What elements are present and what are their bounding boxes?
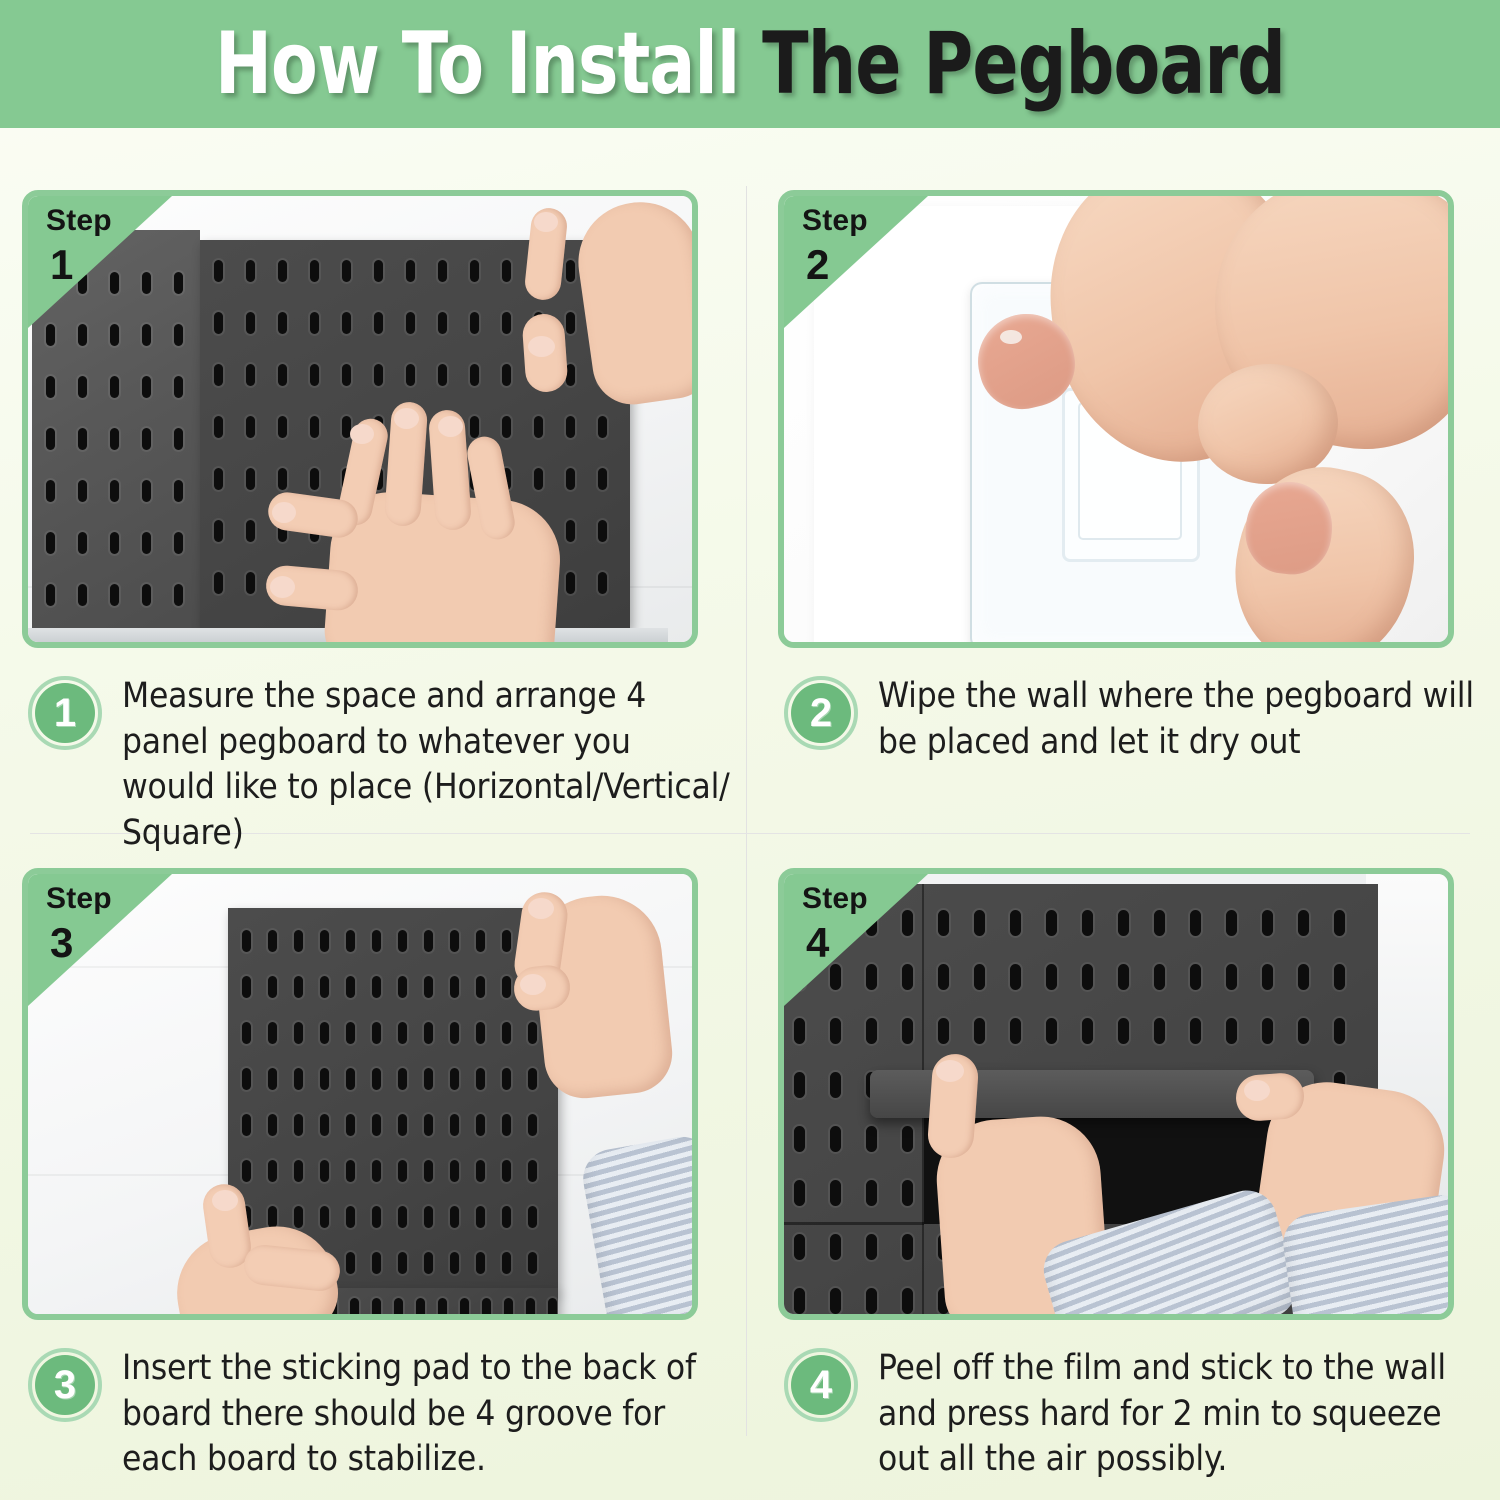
pegboard-slot bbox=[598, 520, 607, 542]
pegboard-slot bbox=[1046, 910, 1057, 936]
pegboard-slot bbox=[1154, 1018, 1165, 1044]
vertical-divider bbox=[746, 186, 747, 1436]
fingernail bbox=[272, 502, 296, 523]
pegboard-slot bbox=[310, 260, 319, 282]
pegboard-slot bbox=[310, 416, 319, 438]
badge-disc: 2 bbox=[791, 683, 851, 743]
pegboard-slot bbox=[566, 416, 575, 438]
pegboard-slot bbox=[78, 584, 87, 606]
pegboard-slot bbox=[346, 1114, 355, 1136]
pegboard-slot bbox=[372, 1206, 381, 1228]
pegboard-slot bbox=[902, 964, 913, 990]
pegboard-slot bbox=[346, 1206, 355, 1228]
pegboard-slot bbox=[794, 1234, 805, 1260]
pegboard-slot bbox=[346, 976, 355, 998]
pegboard-slot bbox=[438, 312, 447, 334]
pegboard-slot bbox=[242, 976, 251, 998]
pegboard-slot bbox=[534, 468, 543, 490]
pegboard-slot bbox=[866, 1126, 877, 1152]
pegboard-slot bbox=[502, 364, 511, 386]
pegboard-slot bbox=[320, 1068, 329, 1090]
step-3-scene bbox=[28, 874, 692, 1314]
pegboard-slot bbox=[372, 1068, 381, 1090]
pegboard-slot bbox=[1154, 910, 1165, 936]
pegboard-slot bbox=[278, 260, 287, 282]
pegboard-slot bbox=[1226, 964, 1237, 990]
pegboard-slot bbox=[902, 1018, 913, 1044]
pegboard-panel-strip bbox=[314, 1288, 558, 1314]
pegboard-slot bbox=[438, 364, 447, 386]
pegboard-slot bbox=[294, 1206, 303, 1228]
pegboard-slot bbox=[110, 324, 119, 346]
step-number-badge-1: 1 bbox=[28, 676, 102, 750]
pegboard-slot bbox=[310, 312, 319, 334]
pegboard-slot bbox=[476, 1160, 485, 1182]
pegboard-slot bbox=[294, 976, 303, 998]
pegboard-slot bbox=[598, 468, 607, 490]
pegboard-slot bbox=[78, 428, 87, 450]
pegboard-slot bbox=[866, 964, 877, 990]
pegboard-slot bbox=[1298, 964, 1309, 990]
step-card-1: Step 1 1 Measure the space and arrange 4… bbox=[22, 190, 740, 856]
pegboard-slot bbox=[278, 364, 287, 386]
pegboard-slot bbox=[502, 1206, 511, 1228]
pegboard-slot bbox=[294, 1114, 303, 1136]
pegboard-slot bbox=[214, 364, 223, 386]
pegboard-slot bbox=[528, 1252, 537, 1274]
pegboard-slot bbox=[450, 1022, 459, 1044]
nail-highlight bbox=[1000, 330, 1022, 344]
pegboard-slot bbox=[398, 1206, 407, 1228]
pegboard-slot bbox=[424, 930, 433, 952]
pegboard-slot bbox=[372, 930, 381, 952]
pegboard-slot bbox=[268, 1022, 277, 1044]
pegboard-slot bbox=[1046, 964, 1057, 990]
pegboard-slot bbox=[476, 1022, 485, 1044]
pegboard-slot bbox=[1334, 910, 1345, 936]
pegboard-slot bbox=[310, 364, 319, 386]
pegboard-slot bbox=[1082, 1018, 1093, 1044]
pegboard-slot bbox=[110, 532, 119, 554]
pegboard-slot bbox=[110, 272, 119, 294]
pegboard-slot bbox=[46, 376, 55, 398]
pegboard-slot bbox=[1118, 910, 1129, 936]
pegboard-slot bbox=[46, 584, 55, 606]
pegboard-slot bbox=[424, 1068, 433, 1090]
pegboard-slot bbox=[528, 1206, 537, 1228]
step-1-caption: 1 Measure the space and arrange 4 panel … bbox=[22, 674, 740, 856]
pegboard-slot bbox=[142, 376, 151, 398]
page-title-part2: The Pegboard bbox=[762, 14, 1285, 114]
step-card-4: Step 4 4 Peel off the film and stick to … bbox=[778, 868, 1496, 1483]
pegboard-slot bbox=[830, 1288, 841, 1314]
pegboard-slot bbox=[470, 416, 479, 438]
step-3-text: Insert the sticking pad to the back of b… bbox=[122, 1346, 730, 1483]
pegboard-slot bbox=[794, 1126, 805, 1152]
pegboard-slot bbox=[902, 1288, 913, 1314]
pegboard-slot bbox=[242, 1068, 251, 1090]
pegboard-slot bbox=[1082, 910, 1093, 936]
pegboard-slot bbox=[830, 1126, 841, 1152]
pegboard-slot bbox=[416, 1298, 425, 1314]
pegboard-slot bbox=[866, 1234, 877, 1260]
pegboard-slot bbox=[246, 312, 255, 334]
pegboard-slot bbox=[450, 976, 459, 998]
pegboard-slot bbox=[46, 480, 55, 502]
pegboard-slot bbox=[598, 572, 607, 594]
step-corner-number: 4 bbox=[806, 922, 829, 964]
pegboard-slot bbox=[794, 1072, 805, 1098]
pegboard-slot bbox=[502, 976, 511, 998]
pegboard-slot bbox=[566, 572, 575, 594]
step-2-text: Wipe the wall where the pegboard will be… bbox=[878, 674, 1486, 765]
pegboard-slot bbox=[830, 964, 841, 990]
pegboard-slot bbox=[1262, 1018, 1273, 1044]
pegboard-slot bbox=[974, 910, 985, 936]
pegboard-slot bbox=[424, 1252, 433, 1274]
step-corner-number: 3 bbox=[50, 922, 73, 964]
pegboard-slot bbox=[438, 260, 447, 282]
pegboard-slot bbox=[398, 1068, 407, 1090]
pegboard-slot bbox=[174, 480, 183, 502]
pegboard-slot bbox=[246, 364, 255, 386]
pegboard-slot bbox=[174, 376, 183, 398]
pegboard-slot bbox=[502, 312, 511, 334]
pegboard-slot bbox=[110, 428, 119, 450]
step-corner-number: 1 bbox=[50, 244, 73, 286]
pegboard-slot bbox=[406, 260, 415, 282]
step-corner-label: Step bbox=[46, 206, 112, 236]
pegboard-slot bbox=[214, 260, 223, 282]
fingernail bbox=[520, 974, 546, 995]
pegboard-slot bbox=[406, 312, 415, 334]
pegboard-slot bbox=[476, 1206, 485, 1228]
pegboard-slot bbox=[372, 1114, 381, 1136]
pegboard-slot bbox=[242, 1114, 251, 1136]
pegboard-slot bbox=[278, 468, 287, 490]
pegboard-slot bbox=[78, 480, 87, 502]
pegboard-slot bbox=[902, 910, 913, 936]
badge-disc: 1 bbox=[35, 683, 95, 743]
pegboard-slot bbox=[794, 1018, 805, 1044]
pegboard-slot bbox=[470, 364, 479, 386]
step-card-2: Step 2 2 Wipe the wall where the pegboar… bbox=[778, 190, 1496, 765]
step-corner-label: Step bbox=[802, 206, 868, 236]
step-2-caption: 2 Wipe the wall where the pegboard will … bbox=[778, 674, 1496, 765]
pegboard-slot bbox=[214, 468, 223, 490]
page-header: How To Install The Pegboard bbox=[0, 0, 1500, 128]
pegboard-slot bbox=[142, 272, 151, 294]
pegboard-slot bbox=[46, 324, 55, 346]
pegboard-slot bbox=[476, 1114, 485, 1136]
pegboard-slot bbox=[46, 532, 55, 554]
pegboard-slot bbox=[794, 1288, 805, 1314]
pegboard-slot bbox=[1334, 1018, 1345, 1044]
step-card-3: Step 3 3 Insert the sticking pad to the … bbox=[22, 868, 740, 1483]
pegboard-slot bbox=[1118, 1018, 1129, 1044]
pegboard-slot bbox=[342, 312, 351, 334]
pegboard-slot bbox=[346, 1022, 355, 1044]
pegboard-slot bbox=[528, 1068, 537, 1090]
pegboard-slot bbox=[1298, 1018, 1309, 1044]
pegboard-slot bbox=[346, 1252, 355, 1274]
pegboard-slot bbox=[460, 1298, 469, 1314]
pegboard-slot bbox=[374, 364, 383, 386]
pegboard-slot bbox=[1010, 910, 1021, 936]
pegboard-slot bbox=[830, 1072, 841, 1098]
pegboard-slot bbox=[502, 1114, 511, 1136]
pegboard-slot bbox=[938, 1018, 949, 1044]
pegboard-slot bbox=[974, 1018, 985, 1044]
step-3-photo: Step 3 bbox=[22, 868, 698, 1320]
fingernail bbox=[528, 336, 555, 357]
pegboard-slot bbox=[310, 468, 319, 490]
pegboard-slot bbox=[528, 1114, 537, 1136]
pegboard-slot bbox=[424, 1206, 433, 1228]
pegboard-slot bbox=[110, 480, 119, 502]
step-1-photo: Step 1 bbox=[22, 190, 698, 648]
pegboard-slot bbox=[246, 260, 255, 282]
pegboard-slot bbox=[174, 324, 183, 346]
pegboard-slot bbox=[268, 976, 277, 998]
step-2-scene bbox=[784, 196, 1448, 642]
pegboard-slot bbox=[424, 1160, 433, 1182]
pegboard-slot bbox=[902, 1126, 913, 1152]
pegboard-slot bbox=[278, 312, 287, 334]
pegboard-slot bbox=[794, 1180, 805, 1206]
pegboard-slot bbox=[142, 480, 151, 502]
pegboard-slot bbox=[242, 1160, 251, 1182]
pegboard-slot bbox=[110, 376, 119, 398]
pegboard-slot bbox=[938, 964, 949, 990]
pegboard-slot bbox=[110, 584, 119, 606]
pegboard-slot bbox=[174, 584, 183, 606]
pegboard-slot bbox=[424, 1022, 433, 1044]
pegboard-slot bbox=[526, 1298, 535, 1314]
step-corner-label: Step bbox=[46, 884, 112, 914]
fingernail bbox=[270, 576, 295, 598]
pegboard-slot bbox=[346, 930, 355, 952]
pegboard-slot bbox=[406, 364, 415, 386]
pegboard-slot bbox=[174, 532, 183, 554]
pegboard-slot bbox=[598, 416, 607, 438]
fingernail bbox=[438, 416, 463, 437]
pegboard-slot bbox=[502, 930, 511, 952]
pegboard-slot bbox=[214, 416, 223, 438]
pegboard-slot bbox=[470, 260, 479, 282]
pegboard-slot bbox=[566, 364, 575, 386]
pegboard-slot bbox=[502, 1252, 511, 1274]
pegboard-slot bbox=[830, 1180, 841, 1206]
pegboard-slot bbox=[398, 930, 407, 952]
pegboard-slot bbox=[938, 910, 949, 936]
pegboard-slot bbox=[142, 584, 151, 606]
pegboard-slot bbox=[902, 1234, 913, 1260]
fingernail bbox=[212, 1190, 238, 1211]
pegboard-slot bbox=[450, 1114, 459, 1136]
pegboard-slot bbox=[1010, 1018, 1021, 1044]
badge-number: 4 bbox=[810, 1365, 832, 1405]
badge-disc: 3 bbox=[35, 1355, 95, 1415]
pegboard-slot bbox=[78, 376, 87, 398]
badge-number: 3 bbox=[54, 1365, 76, 1405]
pegboard-slot bbox=[424, 976, 433, 998]
pegboard-slot bbox=[528, 1022, 537, 1044]
pegboard-slot bbox=[1226, 910, 1237, 936]
pegboard-slot bbox=[1262, 964, 1273, 990]
pegboard-slot bbox=[502, 260, 511, 282]
pegboard-slot bbox=[268, 1068, 277, 1090]
step-1-text: Measure the space and arrange 4 panel pe… bbox=[122, 674, 730, 856]
fingernail bbox=[1244, 1080, 1270, 1101]
pegboard-slot bbox=[1190, 964, 1201, 990]
pegboard-slot bbox=[342, 260, 351, 282]
pegboard-slot bbox=[174, 428, 183, 450]
pegboard-slot bbox=[476, 976, 485, 998]
pegboard-slot bbox=[394, 1298, 403, 1314]
pegboard-slot bbox=[470, 312, 479, 334]
pegboard-slot bbox=[372, 976, 381, 998]
pegboard-slot bbox=[502, 416, 511, 438]
pegboard-slot bbox=[902, 1180, 913, 1206]
pegboard-slot bbox=[214, 312, 223, 334]
pegboard-slot bbox=[1154, 964, 1165, 990]
pegboard-slot bbox=[1046, 1018, 1057, 1044]
pegboard-slot bbox=[1118, 964, 1129, 990]
pegboard-slot bbox=[142, 428, 151, 450]
pegboard-slot bbox=[246, 572, 255, 594]
step-corner-label: Step bbox=[802, 884, 868, 914]
pegboard-slot bbox=[450, 1206, 459, 1228]
pegboard-slot bbox=[566, 260, 575, 282]
pegboard-slot bbox=[866, 1180, 877, 1206]
pegboard-slot bbox=[502, 1068, 511, 1090]
pegboard-slot bbox=[278, 416, 287, 438]
pegboard-slot bbox=[1082, 964, 1093, 990]
infographic-page: How To Install The Pegboard bbox=[0, 0, 1500, 1500]
pegboard-slot bbox=[214, 520, 223, 542]
pegboard-slot bbox=[528, 1160, 537, 1182]
pegboard-slot bbox=[320, 930, 329, 952]
pegboard-slot bbox=[294, 1068, 303, 1090]
pegboard-slot bbox=[1262, 910, 1273, 936]
pegboard-slot bbox=[1334, 964, 1345, 990]
pegboard-slot bbox=[502, 1160, 511, 1182]
pegboard-slot bbox=[246, 468, 255, 490]
fingernail bbox=[394, 408, 419, 429]
pegboard-slot bbox=[320, 1114, 329, 1136]
pegboard-slot bbox=[374, 312, 383, 334]
pegboard-slot bbox=[142, 324, 151, 346]
pegboard-slot bbox=[482, 1298, 491, 1314]
badge-number: 2 bbox=[810, 693, 832, 733]
step-4-scene bbox=[784, 874, 1448, 1314]
page-title: How To Install The Pegboard bbox=[215, 21, 1285, 107]
pegboard-slot bbox=[372, 1160, 381, 1182]
pegboard-slot bbox=[294, 930, 303, 952]
step-3-caption: 3 Insert the sticking pad to the back of… bbox=[22, 1346, 740, 1483]
pegboard-slot bbox=[476, 1252, 485, 1274]
pegboard-slot bbox=[1190, 910, 1201, 936]
pegboard-slot bbox=[450, 1068, 459, 1090]
pegboard-slot bbox=[566, 312, 575, 334]
pegboard-slot bbox=[1010, 964, 1021, 990]
pegboard-slot bbox=[534, 416, 543, 438]
step-number-badge-3: 3 bbox=[28, 1348, 102, 1422]
pegboard-slot bbox=[502, 1022, 511, 1044]
pegboard-slot bbox=[46, 428, 55, 450]
step-1-scene bbox=[28, 196, 692, 642]
pegboard-slot bbox=[214, 572, 223, 594]
pegboard-slot bbox=[342, 364, 351, 386]
fingernail bbox=[936, 1060, 964, 1082]
step-corner-number: 2 bbox=[806, 244, 829, 286]
panel-seam-horizontal bbox=[784, 1222, 924, 1225]
step-4-photo: Step 4 bbox=[778, 868, 1454, 1320]
pegboard-slot bbox=[830, 1234, 841, 1260]
fingernail bbox=[350, 424, 374, 444]
pegboard-slot bbox=[372, 1022, 381, 1044]
pegboard-slot bbox=[1190, 1018, 1201, 1044]
pegboard-slot bbox=[346, 1068, 355, 1090]
pegboard-slot bbox=[268, 1160, 277, 1182]
pegboard-slot bbox=[268, 1206, 277, 1228]
step-4-text: Peel off the film and stick to the wall … bbox=[878, 1346, 1486, 1483]
pegboard-slot bbox=[398, 1022, 407, 1044]
pegboard-slot bbox=[450, 930, 459, 952]
fingernail bbox=[534, 212, 558, 232]
pegboard-slot bbox=[320, 1206, 329, 1228]
pegboard-slot bbox=[398, 1160, 407, 1182]
step-2-photo: Step 2 bbox=[778, 190, 1454, 648]
pegboard-slot bbox=[320, 976, 329, 998]
pegboard-slot bbox=[78, 324, 87, 346]
steps-grid: Step 1 1 Measure the space and arrange 4… bbox=[0, 128, 1500, 1500]
pegboard-slot bbox=[866, 1288, 877, 1314]
pegboard-slot bbox=[566, 468, 575, 490]
pegboard-slot bbox=[504, 1298, 513, 1314]
pegboard-slot bbox=[566, 520, 575, 542]
pegboard-slot bbox=[346, 1160, 355, 1182]
pegboard-slot bbox=[174, 272, 183, 294]
pegboard-slot bbox=[320, 1160, 329, 1182]
pegboard-slot bbox=[374, 260, 383, 282]
pegboard-slot bbox=[372, 1252, 381, 1274]
pegboard-slot bbox=[548, 1298, 557, 1314]
pegboard-slot bbox=[242, 930, 251, 952]
pegboard-slot bbox=[476, 930, 485, 952]
pegboard-slot bbox=[78, 532, 87, 554]
pegboard-slot bbox=[424, 1114, 433, 1136]
fingernail bbox=[528, 898, 554, 919]
pegboard-slot bbox=[476, 1068, 485, 1090]
pegboard-slot bbox=[246, 520, 255, 542]
pegboard-slot bbox=[372, 1298, 381, 1314]
pegboard-slot bbox=[398, 1252, 407, 1274]
step-number-badge-4: 4 bbox=[784, 1348, 858, 1422]
pegboard-slot bbox=[450, 1252, 459, 1274]
pegboard-slot bbox=[974, 964, 985, 990]
pegboard-slot bbox=[246, 416, 255, 438]
pegboard-slot bbox=[320, 1022, 329, 1044]
pegboard-slot bbox=[294, 1022, 303, 1044]
pegboard-slot bbox=[350, 1298, 359, 1314]
step-4-caption: 4 Peel off the film and stick to the wal… bbox=[778, 1346, 1496, 1483]
badge-number: 1 bbox=[54, 693, 76, 733]
pegboard-slot bbox=[1226, 1018, 1237, 1044]
pegboard-slot bbox=[1298, 910, 1309, 936]
badge-disc: 4 bbox=[791, 1355, 851, 1415]
